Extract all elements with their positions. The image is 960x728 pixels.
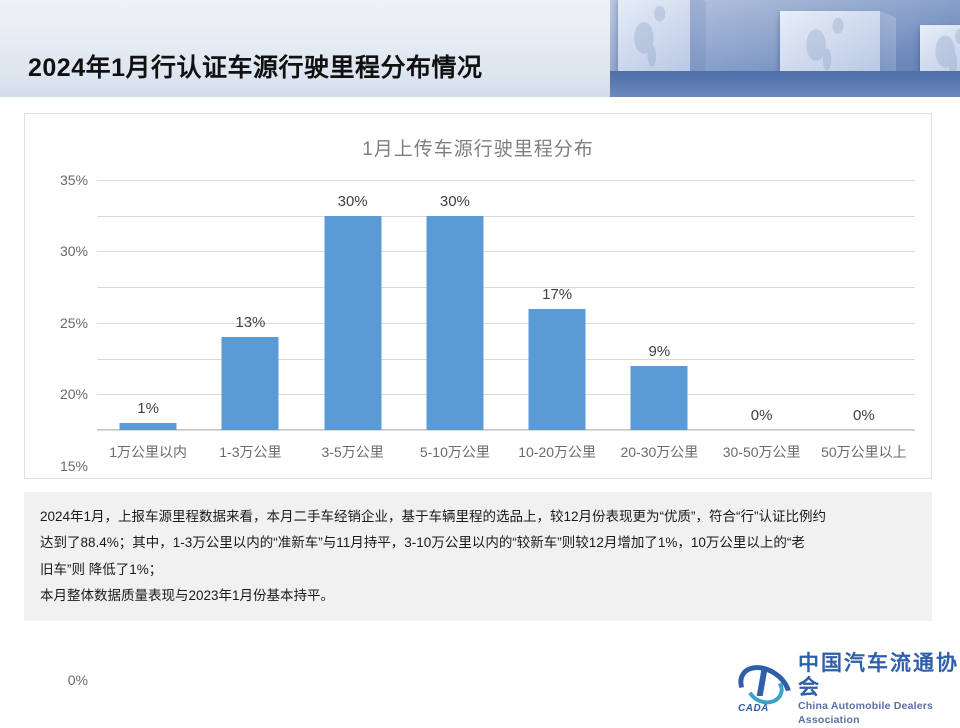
y-axis-tick-label: 25% [60,315,88,331]
gridline: 0% [97,430,915,431]
y-axis-tick-label: 35% [60,172,88,188]
bar-group[interactable]: 30%5-10万公里 [404,180,506,430]
page-header: 2024年1月行认证车源行驶里程分布情况 [0,0,960,97]
bar-value-label: 17% [506,286,608,303]
summary-note: 2024年1月，上报车源里程数据来看，本月二手车经销企业，基于车辆里程的选品上，… [24,492,932,621]
page-title: 2024年1月行认证车源行驶里程分布情况 [28,48,483,84]
bar-group[interactable]: 1%1万公里以内 [97,180,199,430]
bar-value-label: 13% [199,314,301,331]
x-axis-tick-label: 5-10万公里 [420,442,490,462]
y-axis-tick-label: 30% [60,243,88,259]
cube-icon [780,11,880,73]
bar[interactable] [324,216,381,430]
y-axis-tick-label: 0% [68,672,88,688]
bar-group[interactable]: 0%50万公里以上 [813,180,915,430]
x-axis-tick-label: 3-5万公里 [322,442,384,462]
bar[interactable] [631,366,688,430]
world-map-texture [920,25,960,73]
chart-plot-area: 0%5%10%15%20%25%30%35%1%1万公里以内13%1-3万公里3… [97,180,915,430]
x-axis-tick-label: 20-30万公里 [620,442,698,462]
cada-logo: CADA 中国汽车流通协会 China Automobile Dealers A… [734,652,960,728]
chart-title: 1月上传车源行驶里程分布 [25,134,931,161]
bar-group[interactable]: 17%10-20万公里 [506,180,608,430]
note-line-2: 达到了88.4%；其中，1-3万公里以内的“准新车”与11月持平，3-10万公里… [40,530,918,556]
world-map-texture [780,11,880,73]
cube-icon [618,0,690,73]
logo-name-en: China Automobile Dealers Association [798,700,960,727]
bar[interactable] [426,216,483,430]
bar-value-label: 9% [608,343,710,360]
logo-text-group: 中国汽车流通协会 China Automobile Dealers Associ… [798,652,960,728]
logo-abbr: CADA [738,703,769,714]
bar[interactable] [222,337,279,430]
x-axis-tick-label: 1-3万公里 [219,442,281,462]
bar[interactable] [120,423,177,430]
bar-group[interactable]: 0%30-50万公里 [711,180,813,430]
note-line-1: 2024年1月，上报车源里程数据来看，本月二手车经销企业，基于车辆里程的选品上，… [40,504,918,530]
logo-name-cn: 中国汽车流通协会 [798,652,960,700]
cada-emblem-icon: CADA [734,666,790,714]
x-axis-tick-label: 50万公里以上 [821,442,907,462]
bar-value-label: 1% [97,400,199,417]
bar-value-label: 0% [711,407,813,424]
bar-value-label: 30% [302,193,404,210]
x-axis-tick-label: 30-50万公里 [723,442,801,462]
cube-side-face [880,11,896,79]
x-axis-tick-label: 10-20万公里 [518,442,596,462]
cube-side-face [690,0,706,79]
bar-group[interactable]: 13%1-3万公里 [199,180,301,430]
cube-icon [920,25,960,73]
bar-group[interactable]: 9%20-30万公里 [608,180,710,430]
world-map-texture [618,0,690,73]
bar-group[interactable]: 30%3-5万公里 [302,180,404,430]
bar[interactable] [529,309,586,430]
note-line-4: 本月整体数据质量表现与2023年1月份基本持平。 [40,583,918,609]
y-axis-tick-label: 15% [60,458,88,474]
bar-value-label: 0% [813,407,915,424]
x-axis-tick-label: 1万公里以内 [109,442,187,462]
header-decor-image [610,0,960,97]
note-line-3: 旧车”则 降低了1%； [40,557,918,583]
y-axis-tick-label: 20% [60,386,88,402]
bar-value-label: 30% [404,193,506,210]
chart-card: 1月上传车源行驶里程分布 0%5%10%15%20%25%30%35%1%1万公… [24,113,932,479]
